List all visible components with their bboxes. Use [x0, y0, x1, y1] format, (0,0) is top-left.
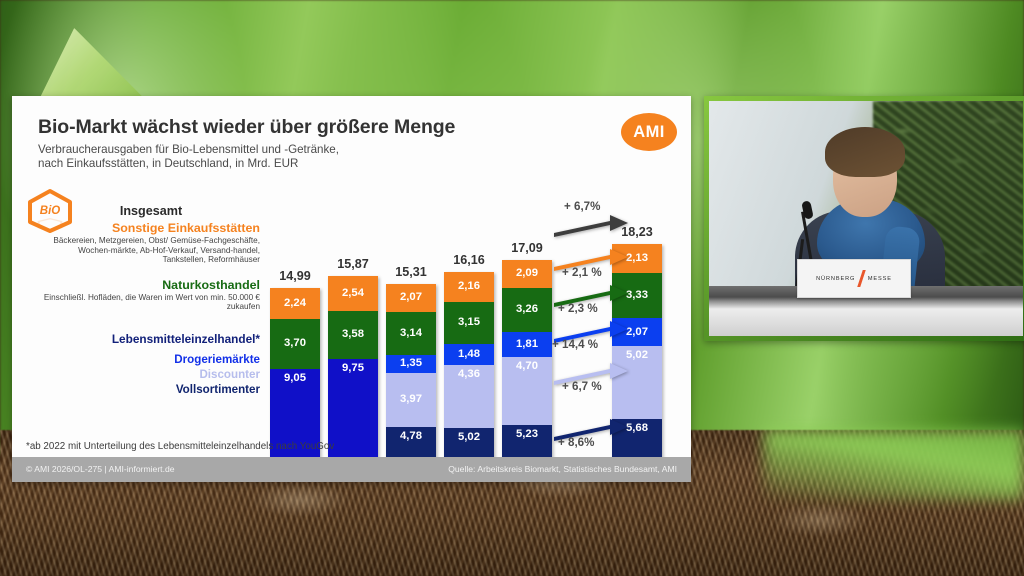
growth-arrow-label: + 14,4 %: [552, 338, 598, 351]
legend-item-drogeriemaerkte: Drogeriemärkte: [42, 353, 260, 366]
legend-item-leh: Lebensmitteleinzelhandel*: [42, 332, 260, 346]
bar-segment[interactable]: 3,26: [502, 288, 552, 332]
speaker-hair: [825, 127, 905, 177]
infographic-card: Bio-Markt wächst wieder über größere Men…: [12, 96, 691, 482]
bar-total-label: 16,16: [444, 253, 494, 267]
bar-segment[interactable]: 1,35: [386, 355, 436, 373]
bar-total-label: 17,09: [502, 241, 552, 255]
background-soil-green-haze: [764, 430, 1024, 500]
chart-footnote: *ab 2022 mit Unterteilung des Lebensmitt…: [26, 441, 334, 452]
bar-segment[interactable]: 3,70: [270, 319, 320, 369]
bar-segment[interactable]: 3,14: [386, 312, 436, 355]
subtitle-line-1: Verbraucherausgaben für Bio-Lebensmittel…: [38, 143, 339, 157]
growth-arrow-2: + 2,1 %: [552, 246, 632, 272]
speaker-video-panel[interactable]: NÜRNBERG MESSE: [704, 96, 1024, 341]
sign-text-right: MESSE: [868, 276, 892, 282]
bar-segment[interactable]: 1,48: [444, 344, 494, 364]
bar-segment[interactable]: 2,07: [386, 284, 436, 312]
bar-segment[interactable]: 2,16: [444, 272, 494, 301]
sign-slash-icon: [858, 270, 866, 287]
bar-stack: 2,093,261,814,705,23: [502, 260, 552, 482]
legend-item-discounter: Discounter: [42, 368, 260, 381]
footer-source: Quelle: Arbeitskreis Biomarkt, Statistis…: [448, 464, 677, 474]
subtitle-line-2: nach Einkaufsstätten, in Deutschland, in…: [38, 157, 339, 171]
ami-logo-text: AMI: [633, 123, 664, 142]
bar-stack: 2,073,141,353,974,78: [386, 284, 436, 482]
bar-segment[interactable]: 3,15: [444, 302, 494, 345]
legend-item-naturkosthandel: Naturkosthandel: [42, 278, 260, 292]
bar-total-label: 15,31: [386, 265, 436, 279]
legend-item-vollsortimenter: Vollsortimenter: [42, 383, 260, 396]
stacked-bar-chart: 14,992,243,709,05202015,872,543,589,7520…: [262, 200, 680, 482]
bar-segment[interactable]: 2,54: [328, 276, 378, 311]
bar-stack: 2,543,589,75: [328, 276, 378, 482]
growth-arrow-4: + 14,4 %: [552, 318, 632, 344]
bar-stack: 2,163,151,484,365,02: [444, 272, 494, 482]
bar-total-label: 15,87: [328, 257, 378, 271]
footer-copyright: © AMI 2026/OL-275 | AMI-informiert.de: [26, 464, 175, 474]
page-subtitle: Verbraucherausgaben für Bio-Lebensmittel…: [38, 143, 339, 172]
growth-arrow-label: + 2,1 %: [562, 266, 602, 279]
legend-naturkost-detail: Einschließl. Hofläden, die Waren im Wert…: [42, 293, 260, 312]
bar-segment[interactable]: 2,24: [270, 288, 320, 318]
growth-arrow-label: + 6,7 %: [562, 380, 602, 393]
growth-arrow-1: + 6,7%: [552, 212, 632, 238]
bar-segment[interactable]: 3,97: [386, 373, 436, 427]
growth-arrow-label: + 2,3 %: [558, 302, 598, 315]
bar-segment[interactable]: 2,09: [502, 260, 552, 288]
nuernberg-messe-sign: NÜRNBERG MESSE: [797, 259, 911, 298]
bar-segment[interactable]: 3,58: [328, 311, 378, 360]
bar-segment[interactable]: 1,81: [502, 332, 552, 357]
bar-segment[interactable]: 4,36: [444, 365, 494, 428]
ami-logo: AMI: [621, 113, 677, 151]
page-title: Bio-Markt wächst wieder über größere Men…: [38, 116, 455, 139]
growth-arrow-label: + 6,7%: [564, 200, 600, 213]
bar-total-label: 14,99: [270, 269, 320, 283]
bar-stack: 2,243,709,05: [270, 288, 320, 482]
growth-arrow-3: + 2,3 %: [552, 282, 632, 308]
legend-item-insgesamt: Insgesamt: [42, 204, 260, 218]
legend-item-sonstige: Sonstige Einkaufsstätten: [42, 221, 260, 235]
bar-segment[interactable]: 4,70: [502, 357, 552, 425]
legend-sonstige-detail: Bäckereien, Metzgereien, Obst/ Gemüse-Fa…: [42, 236, 260, 265]
sign-text-left: NÜRNBERG: [816, 276, 855, 282]
growth-arrow-5: + 6,7 %: [552, 360, 632, 386]
chart-legend: Insgesamt Sonstige Einkaufsstätten Bäcke…: [42, 204, 260, 396]
growth-arrow-6: + 8,6%: [552, 416, 632, 442]
card-footer: © AMI 2026/OL-275 | AMI-informiert.de Qu…: [12, 457, 691, 482]
growth-arrow-label: + 8,6%: [558, 436, 594, 449]
